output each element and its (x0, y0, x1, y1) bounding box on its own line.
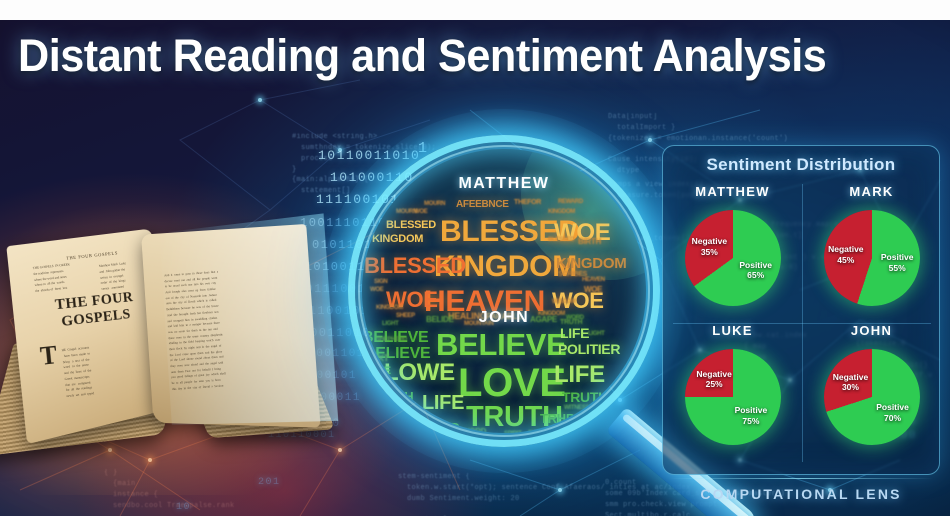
pie-chart: Positive55%Negative45% (824, 210, 920, 306)
open-book-illustration: THE FOUR GOSPELS THE GOSPELS IN GREEK th… (0, 215, 322, 465)
top-white-strip (0, 0, 950, 20)
pie-gospel-label: MARK (802, 184, 941, 199)
book-body-text-right2: And it came to pass in those days that a… (164, 265, 292, 393)
book-body-text-left: THE GOSPELS IN GREEK the tradition repre… (33, 260, 94, 295)
pie-cell-luke: LUKEPositive75%Negative25% (663, 323, 802, 462)
pie-gospel-label: JOHN (802, 323, 941, 338)
pie-cell-matthew: MATTHEWPositive65%Negative35% (663, 184, 802, 323)
wordcloud-word-john: DITTHCE (364, 405, 401, 415)
pie-slice-label: Positive70% (876, 402, 909, 423)
caption-rule (668, 478, 934, 479)
pie-slice-label: Positive65% (739, 260, 772, 281)
magnifying-glass: BLESSEDKINGDOMHEAVENWOEBLESSEDWOEWOEKING… (348, 135, 660, 447)
screenshot-root: 1011001101010100011011110010101001110110… (0, 0, 950, 516)
panel-title: Sentiment Distribution (663, 155, 939, 175)
pie-slice-label: Negative35% (692, 236, 727, 257)
artwork-canvas: 1011001101010100011011110010101001110110… (0, 20, 950, 516)
pie-slice-label: Positive55% (881, 252, 914, 273)
book-drop-cap: T (39, 340, 58, 372)
pie-cell-mark: MARKPositive55%Negative45% (802, 184, 941, 323)
page-title: Distant Reading and Sentiment Analysis (18, 30, 826, 82)
pie-gospel-label: LUKE (663, 323, 802, 338)
sentiment-distribution-panel: Sentiment Distribution MATTHEWPositive65… (662, 145, 940, 475)
pie-slice-label: Negative30% (833, 372, 868, 393)
book-body-text-lower: HE Gospel accounts have been made to bri… (61, 342, 126, 400)
pie-chart: Positive70%Negative30% (824, 349, 920, 445)
pie-slice-label: Negative45% (828, 244, 863, 265)
magnifier-inner-ring (358, 145, 650, 437)
pie-gospel-label: MATTHEW (663, 184, 802, 199)
pie-chart: Positive75%Negative25% (685, 349, 781, 445)
pie-slice-label: Negative25% (696, 369, 731, 390)
pie-chart: Positive65%Negative35% (685, 210, 781, 306)
wordcloud-word-john: LIGHT (384, 415, 401, 421)
pie-cell-john: JOHNPositive70%Negative30% (802, 323, 941, 462)
pie-slice-label: Positive75% (735, 405, 768, 426)
computational-lens-caption: COMPUTATIONAL LENS (662, 486, 940, 502)
